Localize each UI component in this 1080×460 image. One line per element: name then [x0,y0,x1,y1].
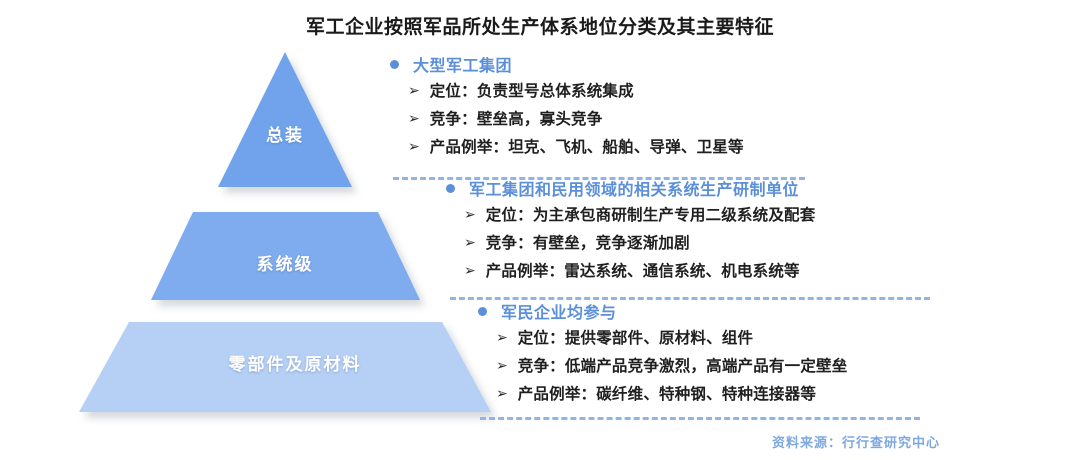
detail-row-text: 产品例举：坦克、飞机、船舶、导弹、卫星等 [430,135,744,157]
arrow-right-icon: ➢ [496,331,508,345]
section-heading-text: 大型军工集团 [413,52,512,76]
detail-row: ➢ 产品例举：碳纤维、特种钢、特种连接器等 [478,382,1080,410]
detail-row-text: 竞争：低端产品竞争激烈，高端产品有一定壁垒 [518,354,848,376]
arrow-right-icon: ➢ [496,359,508,373]
detail-row: ➢ 产品例举：坦克、飞机、船舶、导弹、卫星等 [390,135,1050,163]
arrow-right-icon: ➢ [464,236,476,250]
detail-row: ➢ 竞争：低端产品竞争激烈，高端产品有一定壁垒 [478,354,1080,382]
detail-row-text: 竞争：有壁垒，竞争逐渐加剧 [486,231,690,253]
bullet-dot-icon [446,184,455,193]
detail-row: ➢ 竞争：有壁垒，竞争逐渐加剧 [446,231,1080,259]
section-heading-row: 大型军工集团 [390,52,1050,76]
details-panel: 大型军工集团 ➢ 定位：负责型号总体系统集成 ➢ 竞争：壁垒高，寡头竞争 ➢ 产… [390,52,1050,432]
detail-row: ➢ 定位：为主承包商研制生产专用二级系统及配套 [446,203,1080,231]
page-title: 军工企业按照军品所处生产体系地位分类及其主要特征 [0,12,1080,39]
detail-row: ➢ 竞争：壁垒高，寡头竞争 [390,107,1050,135]
arrow-right-icon: ➢ [408,140,420,154]
detail-row-text: 产品例举：碳纤维、特种钢、特种连接器等 [518,382,816,404]
section-heading-row: 军民企业均参与 [478,299,1080,323]
detail-section-assembly: 大型军工集团 ➢ 定位：负责型号总体系统集成 ➢ 竞争：壁垒高，寡头竞争 ➢ 产… [390,52,1050,163]
detail-row-text: 竞争：壁垒高，寡头竞争 [430,107,603,129]
detail-row-text: 定位：负责型号总体系统集成 [430,79,634,101]
arrow-right-icon: ➢ [408,84,420,98]
detail-section-system: 军工集团和民用领域的相关系统生产研制单位 ➢ 定位：为主承包商研制生产专用二级系… [390,176,1080,287]
detail-row: ➢ 定位：负责型号总体系统集成 [390,79,1050,107]
arrow-right-icon: ➢ [464,264,476,278]
arrow-right-icon: ➢ [464,208,476,222]
detail-row: ➢ 产品例举：雷达系统、通信系统、机电系统等 [446,259,1080,287]
pyramid-tier-top [218,52,352,187]
bullet-dot-icon [478,307,487,316]
source-note: 资料来源：行行查研究中心 [772,432,940,451]
detail-row-text: 产品例举：雷达系统、通信系统、机电系统等 [486,259,800,281]
arrow-right-icon: ➢ [496,387,508,401]
detail-section-components: 军民企业均参与 ➢ 定位：提供零部件、原材料、组件 ➢ 竞争：低端产品竞争激烈，… [390,299,1080,410]
pyramid-tier-middle [151,212,420,300]
bullet-dot-icon [390,60,399,69]
detail-row-text: 定位：为主承包商研制生产专用二级系统及配套 [486,203,816,225]
arrow-right-icon: ➢ [408,112,420,126]
detail-row-text: 定位：提供零部件、原材料、组件 [518,326,754,348]
detail-row: ➢ 定位：提供零部件、原材料、组件 [478,326,1080,354]
section-heading-text: 军民企业均参与 [501,299,617,323]
section-divider [480,417,920,420]
section-divider [393,177,805,180]
section-divider [450,297,930,300]
